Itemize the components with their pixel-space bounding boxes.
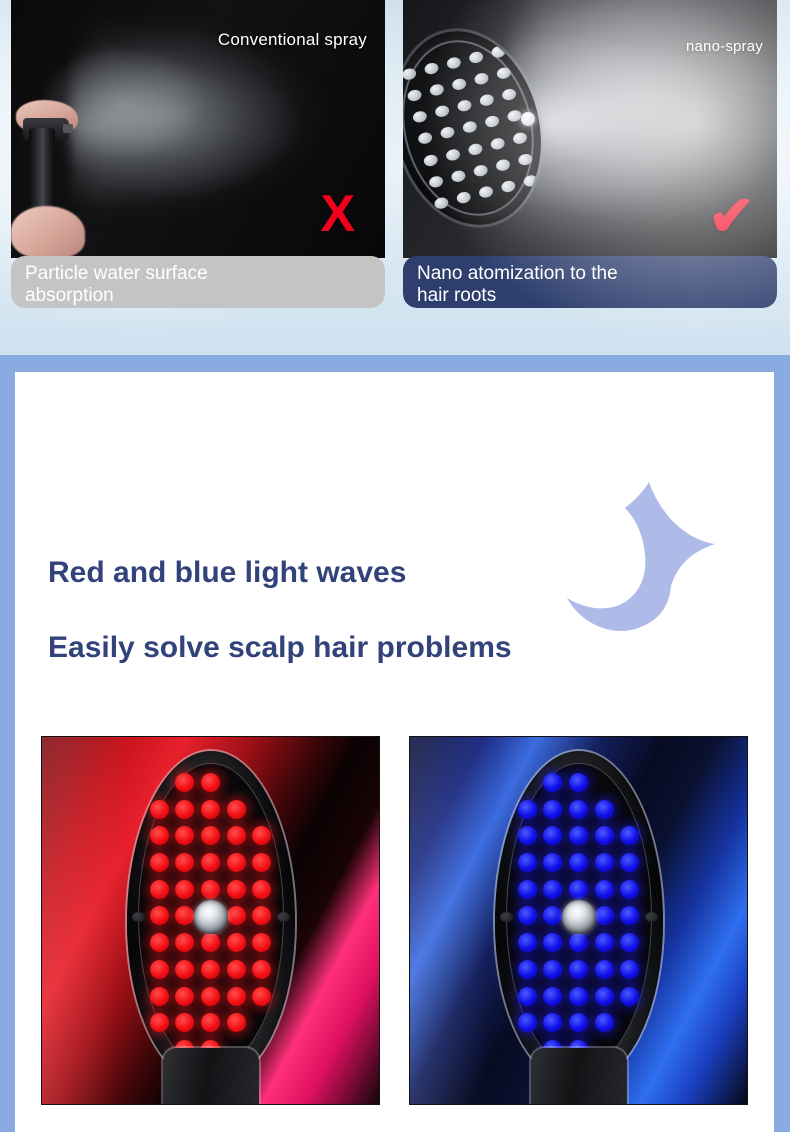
led-gap: [252, 773, 271, 792]
led-dot: [252, 987, 271, 1006]
led-dot: [518, 826, 537, 845]
led-dot: [569, 987, 588, 1006]
nano-spray-panel: nano-spray ✔ Nano atomization to the hai…: [403, 0, 777, 308]
hand-fingers: [11, 206, 85, 258]
water-droplet: [521, 112, 535, 126]
caption-line-2: hair roots: [417, 285, 777, 307]
led-dot: [569, 800, 588, 819]
side-contact-right: [645, 912, 658, 922]
led-dot: [150, 800, 169, 819]
led-dot: [620, 933, 639, 952]
led-dot: [569, 933, 588, 952]
led-dot: [175, 853, 194, 872]
conventional-spray-photo: Conventional spray X: [11, 0, 385, 258]
led-dot: [150, 960, 169, 979]
led-dot: [569, 880, 588, 899]
conventional-spray-panel: Conventional spray X Particle water surf…: [11, 0, 385, 308]
led-dot: [595, 880, 614, 899]
product-feature-page: Conventional spray X Particle water surf…: [0, 0, 790, 1132]
led-dot: [569, 1013, 588, 1032]
spray-nozzle-tip: [63, 124, 73, 133]
led-dot: [543, 933, 562, 952]
led-dot: [227, 853, 246, 872]
led-dot: [175, 826, 194, 845]
check-icon: ✔: [708, 188, 755, 244]
led-dot: [175, 1013, 194, 1032]
led-dot: [227, 1013, 246, 1032]
led-dot: [201, 800, 220, 819]
red-light-brush-photo: [41, 736, 380, 1105]
feature-headline-secondary: Easily solve scalp hair problems: [48, 631, 512, 665]
led-dot: [201, 853, 220, 872]
led-dot: [252, 906, 271, 925]
led-dot: [201, 960, 220, 979]
brush-nub-grid: [403, 40, 542, 214]
led-dot: [252, 933, 271, 952]
led-dot: [543, 773, 562, 792]
led-dot: [620, 826, 639, 845]
brush-handle: [531, 1048, 627, 1105]
curved-arrow-icon: [565, 470, 750, 635]
led-dot: [620, 960, 639, 979]
side-contact-left: [132, 912, 145, 922]
led-dot: [518, 933, 537, 952]
led-dot: [569, 826, 588, 845]
led-dot: [201, 826, 220, 845]
led-dot: [518, 960, 537, 979]
led-dot: [569, 773, 588, 792]
led-dot: [595, 933, 614, 952]
side-contact-left: [500, 912, 513, 922]
led-dot: [150, 906, 169, 925]
led-dot: [201, 880, 220, 899]
led-dot: [543, 826, 562, 845]
led-dot: [518, 853, 537, 872]
caption-line-1: Particle water surface: [25, 263, 385, 285]
led-dot: [175, 906, 194, 925]
led-dot: [620, 906, 639, 925]
spray-comparison-section: Conventional spray X Particle water surf…: [0, 0, 790, 357]
led-gap: [518, 773, 537, 792]
led-dot: [252, 853, 271, 872]
led-dot: [620, 853, 639, 872]
led-dot: [543, 853, 562, 872]
led-dot: [150, 826, 169, 845]
conventional-spray-label: Conventional spray: [218, 30, 367, 50]
led-gap: [252, 800, 271, 819]
led-dot: [175, 773, 194, 792]
blue-light-brush-photo: [409, 736, 748, 1105]
caption-line-1: Nano atomization to the: [417, 263, 777, 285]
led-dot: [543, 906, 562, 925]
led-dot: [150, 880, 169, 899]
led-dot: [150, 933, 169, 952]
led-dot: [150, 987, 169, 1006]
led-dot: [595, 906, 614, 925]
led-dot: [569, 853, 588, 872]
led-dot: [543, 1013, 562, 1032]
led-dot: [518, 1013, 537, 1032]
led-dot: [227, 800, 246, 819]
led-dot: [518, 880, 537, 899]
feature-headline-primary: Red and blue light waves: [48, 556, 406, 590]
center-lens: [194, 900, 228, 934]
caption-line-2: absorption: [25, 285, 385, 307]
led-dot: [595, 826, 614, 845]
nano-brush-head: [403, 16, 561, 241]
mist-cloud-inner: [71, 46, 303, 206]
led-dot: [620, 987, 639, 1006]
led-dot: [227, 826, 246, 845]
led-dot: [543, 880, 562, 899]
led-dot: [175, 880, 194, 899]
led-dot: [150, 1013, 169, 1032]
led-dot: [201, 773, 220, 792]
led-dot: [201, 933, 220, 952]
led-dot: [595, 800, 614, 819]
led-gap: [620, 800, 639, 819]
led-gap: [150, 773, 169, 792]
led-dot: [595, 987, 614, 1006]
nano-spray-photo: nano-spray ✔: [403, 0, 777, 258]
led-dot: [518, 800, 537, 819]
led-dot: [595, 960, 614, 979]
led-dot: [201, 1013, 220, 1032]
cross-icon: X: [320, 188, 355, 240]
led-dot: [543, 960, 562, 979]
led-dot: [227, 933, 246, 952]
led-dot: [518, 987, 537, 1006]
nano-mist-outer: [530, 0, 777, 243]
led-dot: [150, 853, 169, 872]
led-dot: [175, 960, 194, 979]
led-dot: [227, 987, 246, 1006]
led-dot: [227, 906, 246, 925]
center-lens: [562, 900, 596, 934]
led-gap: [595, 773, 614, 792]
brush-head-rim: [403, 26, 552, 230]
led-gap: [252, 1013, 271, 1032]
led-dot: [175, 987, 194, 1006]
led-dot: [252, 826, 271, 845]
led-dot: [175, 800, 194, 819]
side-contact-right: [277, 912, 290, 922]
nano-mist-inner: [508, 15, 777, 237]
conventional-spray-caption: Particle water surface absorption: [11, 256, 385, 308]
led-dot: [175, 933, 194, 952]
led-dot: [252, 960, 271, 979]
led-dot: [595, 853, 614, 872]
led-gap: [620, 1013, 639, 1032]
led-dot: [227, 960, 246, 979]
led-dot: [620, 880, 639, 899]
brush-head-oval: [127, 751, 295, 1081]
led-gap: [227, 773, 246, 792]
led-dot: [569, 960, 588, 979]
led-dot: [543, 987, 562, 1006]
led-dot: [595, 1013, 614, 1032]
brush-handle: [163, 1048, 259, 1105]
led-dot: [227, 880, 246, 899]
brush-head-oval: [495, 751, 663, 1081]
nano-spray-label: nano-spray: [686, 38, 763, 55]
led-gap: [620, 773, 639, 792]
led-dot: [543, 800, 562, 819]
led-dot: [518, 906, 537, 925]
nano-spray-caption: Nano atomization to the hair roots: [403, 256, 777, 308]
led-dot: [252, 880, 271, 899]
led-dot: [201, 987, 220, 1006]
